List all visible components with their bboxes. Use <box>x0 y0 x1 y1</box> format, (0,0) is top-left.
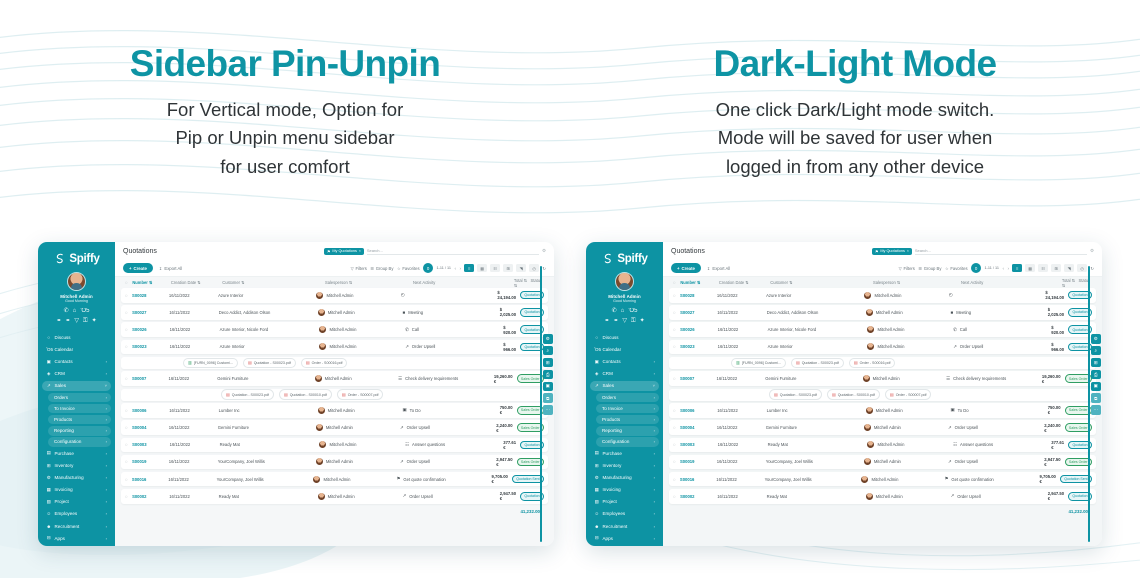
lock-icon[interactable]: ⚿ <box>83 318 88 324</box>
filter-icon[interactable]: ▽ <box>622 318 627 324</box>
column-header-customer[interactable]: Customer ⇅ <box>770 280 873 285</box>
calendar-view-icon[interactable]: ☷ <box>490 264 500 272</box>
list-view-icon[interactable]: ≡ <box>1012 264 1022 272</box>
search-input[interactable]: Search... <box>367 248 539 255</box>
attachment-chip[interactable]: ▤Order - S00007.pdf <box>337 389 384 399</box>
cell-customer: Gemini Furniture <box>766 425 864 430</box>
avatar <box>313 476 320 483</box>
sidebar-item-recruitment[interactable]: ☻Recruitment› <box>42 521 111 532</box>
sidebar-item-inventory[interactable]: ⊞Inventory› <box>590 460 659 471</box>
row-checkbox[interactable]: ○ <box>125 327 132 332</box>
download-icon: ↧ <box>159 266 163 271</box>
sidebar-item-inventory[interactable]: ⊞Inventory› <box>42 460 111 471</box>
attachment-label: Order - S00016.pdf <box>860 361 891 365</box>
sidebar-item-contacts[interactable]: ▣Contacts› <box>590 356 659 367</box>
sidebar-item-configuration[interactable]: Configuration› <box>596 437 659 447</box>
attachment-chip[interactable]: ▤Order - S00016.pdf <box>301 358 348 368</box>
sidebar-item-invoicing[interactable]: ▦Invoicing› <box>590 485 659 496</box>
sidebar-item-invoicing[interactable]: ▦Invoicing› <box>42 485 111 496</box>
column-header-salesperson[interactable]: Salesperson ⇅ <box>325 280 413 285</box>
sidebar-item-crm[interactable]: ◈CRM› <box>590 369 659 380</box>
chevron-down-icon: ˅ <box>105 383 107 388</box>
table-row[interactable]: ○S0000416/11/2022Gemini FurnitureMitchel… <box>669 420 1096 435</box>
sidebar-item-label: Configuration <box>602 439 651 444</box>
table-row[interactable]: ○S0000716/11/2022Gemini FurnitureMitchel… <box>121 371 548 386</box>
sidebar-item-label: Employees <box>55 511 103 516</box>
sidebar-item-label: To Invoice <box>602 406 651 411</box>
row-checkbox[interactable]: ○ <box>125 425 132 430</box>
action-toolbar: +Create↧Export All▽Filters☰Group By☆Favo… <box>663 260 1102 277</box>
table-row[interactable]: ○S0002316/11/2022Azure InteriorMitchell … <box>121 340 548 355</box>
table-row[interactable]: ○S0000316/11/2022Ready MatMitchell Admin… <box>669 438 1096 453</box>
filters-button[interactable]: ▽Filters <box>351 266 367 271</box>
pin-icon[interactable]: ✦ <box>640 318 645 324</box>
apps-grid-icon[interactable]: ⊞ <box>543 358 553 368</box>
link-alt-icon[interactable]: ⚭ <box>65 318 70 324</box>
sidebar-item-discuss[interactable]: ○Discuss <box>42 332 111 343</box>
sidebar-item-to-invoice[interactable]: To Invoice› <box>48 404 111 414</box>
pivot-view-icon[interactable]: ⊞ <box>1051 264 1061 272</box>
avatar <box>319 441 326 448</box>
search-facet-my-quotations[interactable]: ⚑My Quotations× <box>872 248 912 255</box>
search-input[interactable]: Search... <box>915 248 1087 255</box>
table-summary-row: 41,232.00 <box>669 506 1096 514</box>
facet-label: My Quotations <box>880 249 904 253</box>
search-facet-my-quotations[interactable]: ⚑My Quotations× <box>324 248 364 255</box>
sidebar-item-purchase[interactable]: ▤Purchase› <box>42 448 111 459</box>
sidebar-item-settings[interactable]: ⚙Settings› <box>590 545 659 546</box>
cell-number: S00003 <box>132 442 169 447</box>
table-row[interactable]: ○S0000416/11/2022Gemini FurnitureMitchel… <box>121 420 548 435</box>
sidebar-item-manufacturing[interactable]: ⚙Manufacturing› <box>590 472 659 483</box>
chevron-right-icon: › <box>654 536 655 541</box>
table-row[interactable]: ○S0002616/11/2022Azure Interior, Nicole … <box>121 322 548 337</box>
chevron-right-icon: › <box>654 359 655 364</box>
sidebar-item-employees[interactable]: ☺Employees› <box>42 509 111 520</box>
sidebar-item-reporting[interactable]: Reporting› <box>48 426 111 436</box>
home-icon[interactable]: ⌂ <box>73 308 77 314</box>
page-title: Quotations <box>123 248 157 255</box>
sidebar-item-sales[interactable]: ↗Sales˅ <box>590 381 659 392</box>
row-checkbox[interactable]: ○ <box>673 442 680 447</box>
column-header-number[interactable]: Number ⇅ <box>132 280 171 285</box>
table-row[interactable]: ○S0001916/11/2022YourCompany, Joel Willi… <box>121 455 548 470</box>
attachment-chip[interactable]: ▤Quotation - S00023.pdf <box>791 358 844 368</box>
total-sum: 41,232.00 <box>520 509 540 514</box>
table-row[interactable]: ○S0001616/11/2022YourCompany, Joel Willi… <box>669 472 1096 487</box>
save-icon[interactable]: ▣ <box>543 382 553 392</box>
more-icon[interactable]: ⋯ <box>543 405 553 415</box>
table-summary-row: 41,232.00 <box>121 506 548 514</box>
chevron-right-icon: › <box>106 428 107 433</box>
print-icon[interactable]: ⎙ <box>543 370 553 380</box>
cell-creation-date: 16/11/2022 <box>169 459 218 464</box>
avatar[interactable] <box>615 272 634 291</box>
phone-icon[interactable]: ✆ <box>612 308 617 314</box>
group-by-button[interactable]: ☰Group By <box>370 266 393 271</box>
column-header-creation-date[interactable]: Creation Date ⇅ <box>171 280 222 285</box>
cell-creation-date: 16/11/2022 <box>170 442 220 447</box>
brand[interactable]: Spiffy <box>41 252 112 265</box>
cell-total-status: $ 2,025.00Quotation <box>1048 307 1092 317</box>
call-icon: ✆ <box>405 327 409 333</box>
select-all-checkbox[interactable]: ○ <box>673 280 680 285</box>
row-checkbox[interactable]: ○ <box>673 376 680 381</box>
row-checkbox[interactable]: ○ <box>125 494 132 499</box>
table-row[interactable]: ○S0001916/11/2022YourCompany, Joel Willi… <box>669 455 1096 470</box>
column-header-salesperson[interactable]: Salesperson ⇅ <box>873 280 961 285</box>
cell-next-activity: ▣To Do <box>951 407 1048 413</box>
calendar-view-icon[interactable]: ☷ <box>1038 264 1048 272</box>
sidebar-item-manufacturing[interactable]: ⚙Manufacturing› <box>42 472 111 483</box>
attachment-label: Quotation - S00023.pdf <box>802 361 839 365</box>
select-all-checkbox[interactable]: ○ <box>125 280 132 285</box>
filter-icon[interactable]: ▽ <box>74 318 79 324</box>
sidebar-item-apps[interactable]: ⊟Apps› <box>42 533 111 544</box>
favorites-button[interactable]: ☆Favorites <box>397 266 420 271</box>
pdf-file-icon: ▤ <box>342 392 346 397</box>
sidebar-item-employees[interactable]: ☺Employees› <box>590 509 659 520</box>
scrollbar[interactable] <box>1088 266 1090 542</box>
manufacturing-icon: ⚙ <box>46 475 52 481</box>
column-header-customer[interactable]: Customer ⇅ <box>222 280 325 285</box>
search-records-icon[interactable]: ⌕ <box>543 346 553 356</box>
chevron-left-icon[interactable]: ‹ <box>1002 266 1004 271</box>
brand[interactable]: Spiffy <box>589 252 660 265</box>
upsell-icon: ↗ <box>400 425 404 431</box>
sidebar-item-label: Apps <box>55 536 103 541</box>
facet-remove-icon[interactable]: × <box>907 249 909 253</box>
avatar <box>319 326 326 333</box>
quick-icons-row-1: ✆⌂Ὄ5 <box>41 308 112 314</box>
sidebar-item-configuration[interactable]: Configuration› <box>48 437 111 447</box>
getquote-icon: ⚑ <box>396 476 400 482</box>
spiffy-logo-icon <box>53 252 66 265</box>
sidebar-item-sales[interactable]: ↗Sales˅ <box>42 381 111 392</box>
sidebar-item-discuss[interactable]: ○Discuss <box>590 332 659 343</box>
avatar <box>867 343 874 350</box>
settings-gear-icon[interactable]: ⚙ <box>1091 334 1101 344</box>
pivot-view-icon[interactable]: ⊞ <box>503 264 513 272</box>
upsell-icon: ↗ <box>948 425 952 431</box>
cell-total: $ 2,025.00 <box>500 307 516 317</box>
sidebar-item-orders[interactable]: Orders› <box>596 393 659 403</box>
phone-icon[interactable]: ✆ <box>64 308 69 314</box>
cell-salesperson: Mitchell Admin <box>867 343 953 350</box>
cell-total: $ 24,194.00 <box>497 290 516 300</box>
table-row[interactable]: ○S0000316/11/2022Ready MatMitchell Admin… <box>121 438 548 453</box>
table-row[interactable]: ○S0000616/11/2022Lumber IncMitchell Admi… <box>121 403 548 418</box>
contacts-icon: ▣ <box>46 359 52 365</box>
chevron-right-icon: › <box>106 524 107 529</box>
cell-next-activity: ☰Check delivery requirements <box>398 376 494 382</box>
export-all-button[interactable]: ↧Export All <box>159 266 182 271</box>
cell-number: S00002 <box>132 494 169 499</box>
sidebar-item-reporting[interactable]: Reporting› <box>596 426 659 436</box>
attachment-chip[interactable]: ▤Quotation - S00010.pdf <box>827 389 880 399</box>
row-checkbox[interactable]: ○ <box>673 344 680 349</box>
cell-total: 750.00 € <box>1048 405 1061 415</box>
row-checkbox[interactable]: ○ <box>125 310 132 315</box>
attachment-chip[interactable]: ▤Quotation - S00023.pdf <box>769 389 822 399</box>
chevron-right-icon: › <box>106 511 107 516</box>
sidebar-item-calendar[interactable]: Ὄ5Calendar <box>590 344 659 355</box>
column-header-number[interactable]: Number ⇅ <box>680 280 719 285</box>
sidebar-item-settings[interactable]: ⚙Settings› <box>42 545 111 546</box>
cell-customer: Gemini Furniture <box>218 425 316 430</box>
filter-icon: ▽ <box>351 266 354 271</box>
table-row[interactable]: ○S0002816/11/2022Azure InteriorMitchell … <box>669 288 1096 303</box>
page-title-left: Sidebar Pin-Unpin <box>0 44 570 85</box>
pdf-file-icon: ▤ <box>796 360 800 365</box>
sidebar-item-calendar[interactable]: Ὄ5Calendar <box>42 344 111 355</box>
row-checkbox[interactable]: ○ <box>673 477 680 482</box>
row-checkbox[interactable]: ○ <box>125 442 132 447</box>
calendar-icon[interactable]: Ὄ5 <box>628 308 637 314</box>
table-row[interactable]: ○S0002716/11/2022Deco Addict, Addison Ol… <box>669 305 1096 320</box>
row-checkbox[interactable]: ○ <box>673 408 680 413</box>
attachment-chip[interactable]: ▤Quotation - S00023.pdf <box>243 358 296 368</box>
pin-icon[interactable]: ✦ <box>92 318 97 324</box>
checklist-icon: ☰ <box>946 376 950 382</box>
gear-icon[interactable]: ⚙ <box>1090 248 1094 254</box>
cell-salesperson: Mitchell Admin <box>864 424 948 431</box>
cell-creation-date: 16/11/2022 <box>169 425 218 430</box>
column-header-next-activity[interactable]: Next Activity <box>961 280 1062 285</box>
save-icon[interactable]: ▣ <box>1091 382 1101 392</box>
cell-salesperson: Mitchell Admin <box>864 458 948 465</box>
column-header-next-activity[interactable]: Next Activity <box>413 280 514 285</box>
row-checkbox[interactable]: ○ <box>673 310 680 315</box>
create-button[interactable]: +Create <box>671 263 701 273</box>
sidebar-item-project[interactable]: ▧Project› <box>42 497 111 508</box>
cell-salesperson: Mitchell Admin <box>315 375 399 382</box>
table-row[interactable]: ○S0000716/11/2022Gemini FurnitureMitchel… <box>669 371 1096 386</box>
table-row[interactable]: ○S0002816/11/2022Azure InteriorMitchell … <box>121 288 548 303</box>
user-block[interactable]: Mitchell AdminGood Morning <box>589 272 660 303</box>
sidebar-item-to-invoice[interactable]: To Invoice› <box>596 404 659 414</box>
kanban-view-icon[interactable]: ▦ <box>1025 264 1035 272</box>
cell-salesperson: Mitchell Admin <box>861 476 944 483</box>
chevron-right-icon: › <box>654 406 655 411</box>
sidebar-item-label: Contacts <box>603 359 651 364</box>
sidebar-item-purchase[interactable]: ▤Purchase› <box>590 448 659 459</box>
row-checkbox[interactable]: ○ <box>125 376 132 381</box>
attachment-chip-group: ▤Quotation - S00023.pdf▤Quotation - S000… <box>673 389 931 399</box>
cell-number: S00006 <box>132 408 169 413</box>
search-records-icon[interactable]: ⌕ <box>1091 346 1101 356</box>
row-checkbox[interactable]: ○ <box>125 477 132 482</box>
inventory-icon: ⊞ <box>46 463 52 469</box>
chevron-right-icon[interactable]: › <box>1007 266 1009 271</box>
page-badge[interactable]: 0 <box>423 263 433 273</box>
cell-number: S00026 <box>680 327 717 332</box>
chevron-left-icon[interactable]: ‹ <box>454 266 456 271</box>
cell-creation-date: 16/11/2022 <box>718 442 768 447</box>
calendar-icon[interactable]: Ὄ5 <box>80 308 89 314</box>
avatar <box>867 441 874 448</box>
row-checkbox[interactable]: ○ <box>673 327 680 332</box>
create-button[interactable]: +Create <box>123 263 153 273</box>
group-by-button[interactable]: ☰Group By <box>918 266 941 271</box>
sidebar-item-products[interactable]: Products› <box>48 415 111 425</box>
table-row[interactable]: ○S0000216/11/2022Ready MatMitchell Admin… <box>669 489 1096 504</box>
cell-customer: Azure Interior <box>766 293 864 298</box>
refresh-icon[interactable]: ↻ <box>1090 266 1094 271</box>
row-checkbox[interactable]: ○ <box>125 459 132 464</box>
table-row[interactable]: ○S0001616/11/2022YourCompany, Joel Willi… <box>121 472 548 487</box>
activity-view-icon[interactable]: ◴ <box>529 264 539 272</box>
table-row[interactable]: ○S0002616/11/2022Azure Interior, Nicole … <box>669 322 1096 337</box>
apps-grid-icon[interactable]: ⊞ <box>1091 358 1101 368</box>
chevron-right-icon: › <box>106 371 107 376</box>
row-checkbox[interactable]: ○ <box>673 425 680 430</box>
avatar <box>864 292 871 299</box>
duplicate-icon[interactable]: ⧉ <box>1091 393 1101 403</box>
activity-view-icon[interactable]: ◴ <box>1077 264 1087 272</box>
cell-customer: Azure Interior <box>218 293 316 298</box>
kanban-view-icon[interactable]: ▦ <box>477 264 487 272</box>
home-icon[interactable]: ⌂ <box>621 308 625 314</box>
attachment-chip[interactable]: ▥[FURN_0096] Customi... <box>731 358 786 368</box>
settings-gear-icon[interactable]: ⚙ <box>543 334 553 344</box>
link-icon[interactable]: ⚭ <box>56 318 61 324</box>
sidebar-item-label: Recruitment <box>55 524 103 529</box>
cell-next-activity: ◴ <box>401 292 498 298</box>
user-block[interactable]: Mitchell AdminGood Morning <box>41 272 112 303</box>
attachment-chip[interactable]: ▤Quotation - S00023.pdf <box>221 389 274 399</box>
cell-total: 19,260.00 € <box>494 374 513 384</box>
graph-view-icon[interactable]: ◥ <box>516 264 526 272</box>
cell-customer: Azure Interior <box>220 344 320 349</box>
sidebar: SpiffyMitchell AdminGood Morning✆⌂Ὄ5⚭⚭▽⚿… <box>38 242 115 546</box>
refresh-icon[interactable]: ↻ <box>542 266 546 271</box>
cell-total-status: 377.61 €Quotation <box>1051 440 1092 450</box>
sidebar-item-label: Products <box>602 417 651 422</box>
cell-creation-date: 16/11/2022 <box>717 459 766 464</box>
purchase-icon: ▤ <box>594 450 600 456</box>
sidebar-item-contacts[interactable]: ▣Contacts› <box>42 356 111 367</box>
avatar <box>864 424 871 431</box>
attachment-label: Quotation - S00023.pdf <box>254 361 291 365</box>
right-edge-toolbar: ⚙⌕⊞⎙▣⧉⋯ <box>543 334 553 415</box>
cell-customer: Deco Addict, Addison Olson <box>219 310 318 315</box>
chevron-right-icon: › <box>106 487 107 492</box>
pagination-count: 1-11 / 11 <box>985 266 999 270</box>
print-icon[interactable]: ⎙ <box>1091 370 1101 380</box>
row-checkbox[interactable]: ○ <box>673 293 680 298</box>
brand-name: Spiffy <box>617 253 647 265</box>
attachment-chip[interactable]: ▤Order - S00007.pdf <box>885 389 932 399</box>
search-area: ⚑My Quotations×Search... <box>872 248 1087 255</box>
invoicing-icon: ▦ <box>594 487 600 493</box>
sidebar-item-label: Project <box>603 499 651 504</box>
chevron-right-icon: › <box>106 451 107 456</box>
cell-total: 2,240.00 € <box>496 423 512 433</box>
avatar[interactable] <box>67 272 86 291</box>
table-row[interactable]: ○S0000216/11/2022Ready MatMitchell Admin… <box>121 489 548 504</box>
group-icon: ☰ <box>370 266 374 271</box>
row-checkbox[interactable]: ○ <box>673 494 680 499</box>
attachment-label: Order - S00007.pdf <box>348 393 379 397</box>
attachment-chip[interactable]: ▤Order - S00016.pdf <box>849 358 896 368</box>
duplicate-icon[interactable]: ⧉ <box>543 393 553 403</box>
table-row[interactable]: ○S0002716/11/2022Deco Addict, Addison Ol… <box>121 305 548 320</box>
attachment-chip[interactable]: ▥[FURN_0096] Customi... <box>183 358 238 368</box>
cell-next-activity: ↗Order Upsell <box>951 493 1048 499</box>
table-row[interactable]: ○S0000616/11/2022Lumber IncMitchell Admi… <box>669 403 1096 418</box>
link-icon[interactable]: ⚭ <box>604 318 609 324</box>
filter-icon: ▽ <box>899 266 902 271</box>
page-badge[interactable]: 0 <box>971 263 981 273</box>
cell-total-status: $ 966.00Quotation <box>1051 342 1092 352</box>
column-header-creation-date[interactable]: Creation Date ⇅ <box>719 280 770 285</box>
sidebar-item-crm[interactable]: ◈CRM› <box>42 369 111 380</box>
chevron-right-icon[interactable]: › <box>459 266 461 271</box>
cell-number: S00027 <box>132 310 169 315</box>
avatar <box>319 343 326 350</box>
row-checkbox[interactable]: ○ <box>125 408 132 413</box>
gear-icon[interactable]: ⚙ <box>542 248 546 254</box>
sidebar-item-project[interactable]: ▧Project› <box>590 497 659 508</box>
cell-number: S00019 <box>132 459 169 464</box>
sidebar-item-label: Employees <box>603 511 651 516</box>
sidebar-item-orders[interactable]: Orders› <box>48 393 111 403</box>
pdf-file-icon: ▤ <box>832 392 836 397</box>
table-row[interactable]: ○S0002316/11/2022Azure InteriorMitchell … <box>669 340 1096 355</box>
cell-number: S00003 <box>680 442 717 447</box>
facet-remove-icon[interactable]: × <box>359 249 361 253</box>
sales-icon: ↗ <box>594 383 600 389</box>
employees-icon: ☺ <box>46 511 52 516</box>
cell-salesperson: Mitchell Admin <box>866 407 951 414</box>
cell-next-activity: ✆Call <box>953 327 1051 333</box>
filters-button[interactable]: ▽Filters <box>899 266 915 271</box>
crm-icon: ◈ <box>46 371 52 377</box>
cell-next-activity: ◴ <box>949 292 1046 298</box>
list-view-icon[interactable]: ≡ <box>464 264 474 272</box>
sidebar-item-recruitment[interactable]: ☻Recruitment› <box>590 521 659 532</box>
attachment-chip[interactable]: ▤Quotation - S00010.pdf <box>279 389 332 399</box>
cell-number: S00016 <box>680 477 716 482</box>
scrollbar[interactable] <box>540 266 542 542</box>
chat-icon: ○ <box>594 335 600 340</box>
favorites-button[interactable]: ☆Favorites <box>945 266 968 271</box>
link-alt-icon[interactable]: ⚭ <box>613 318 618 324</box>
row-checkbox[interactable]: ○ <box>125 293 132 298</box>
row-checkbox[interactable]: ○ <box>125 344 132 349</box>
upsell-icon: ↗ <box>403 493 407 499</box>
getquote-icon: ⚑ <box>944 476 948 482</box>
quick-icons-row-2: ⚭⚭▽⚿✦ <box>589 318 660 324</box>
cell-total: 377.61 € <box>503 440 516 450</box>
cell-next-activity: ■Meeting <box>951 310 1048 315</box>
sidebar-item-apps[interactable]: ⊟Apps› <box>590 533 659 544</box>
cell-salesperson: Mitchell Admin <box>867 326 953 333</box>
row-checkbox[interactable]: ○ <box>673 459 680 464</box>
chevron-right-icon: › <box>106 417 107 422</box>
pagination-count: 1-11 / 11 <box>437 266 451 270</box>
lock-icon[interactable]: ⚿ <box>631 318 636 324</box>
more-icon[interactable]: ⋯ <box>1091 405 1101 415</box>
xls-file-icon: ▥ <box>736 360 740 365</box>
cell-number: S00027 <box>680 310 717 315</box>
sidebar-item-products[interactable]: Products› <box>596 415 659 425</box>
chevron-right-icon: › <box>654 371 655 376</box>
attachment-label: Order - S00016.pdf <box>312 361 343 365</box>
export-all-button[interactable]: ↧Export All <box>707 266 730 271</box>
graph-view-icon[interactable]: ◥ <box>1064 264 1074 272</box>
